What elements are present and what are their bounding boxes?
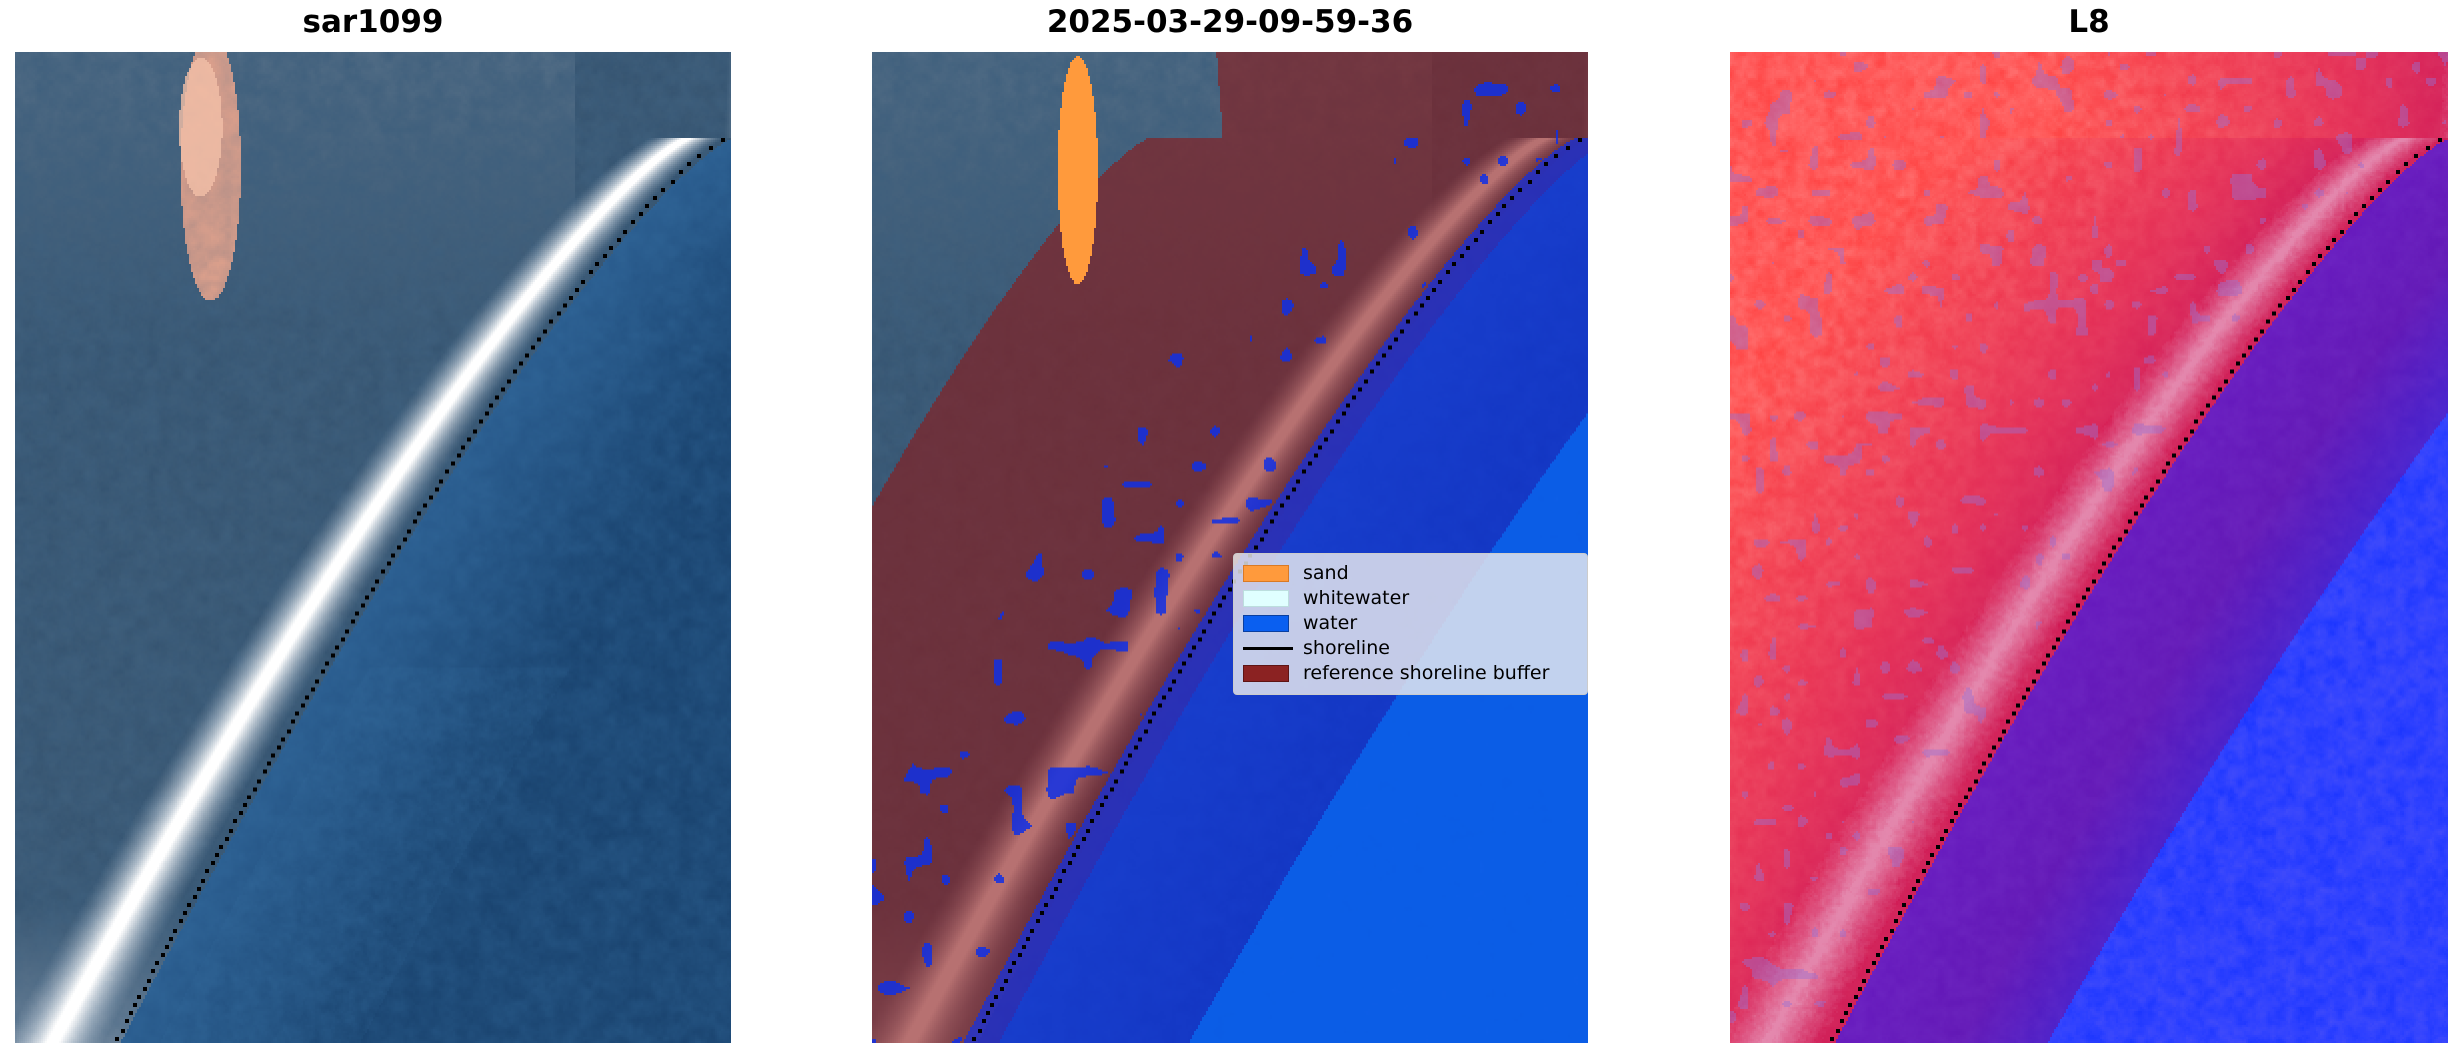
legend-item-water: water (1243, 611, 1578, 636)
legend-item-sand: sand (1243, 561, 1578, 586)
shoreline-line-icon (1243, 636, 1299, 661)
legend-label-water: water (1299, 611, 1357, 636)
legend-label-reference-shoreline-buffer: reference shoreline buffer (1299, 661, 1549, 686)
panel-sar1099: sar1099 (15, 52, 731, 1043)
legend-label-whitewater: whitewater (1299, 586, 1409, 611)
panel-classification: 2025-03-29-09-59-36 (872, 52, 1588, 1043)
panel-title-l8: L8 (1730, 4, 2448, 40)
legend-label-sand: sand (1299, 561, 1349, 586)
panel-l8: L8 (1730, 52, 2448, 1043)
panel-title-timestamp: 2025-03-29-09-59-36 (872, 4, 1588, 40)
reference-buffer-swatch-icon (1243, 661, 1299, 686)
panel-title-sar1099: sar1099 (15, 4, 731, 40)
legend-label-shoreline: shoreline (1299, 636, 1390, 661)
panel-image-l8 (1730, 52, 2448, 1043)
legend-item-reference-shoreline-buffer: reference shoreline buffer (1243, 661, 1578, 686)
legend-item-whitewater: whitewater (1243, 586, 1578, 611)
whitewater-swatch-icon (1243, 586, 1299, 611)
legend-item-shoreline: shoreline (1243, 636, 1578, 661)
legend: sand whitewater water shoreline referenc (1233, 553, 1588, 695)
sand-swatch-icon (1243, 561, 1299, 586)
panel-image-sar1099 (15, 52, 731, 1043)
panel-image-classification (872, 52, 1588, 1043)
figure-canvas: sar1099 2025-03-29-09-59-36 L8 sand whit… (0, 0, 2460, 1056)
water-swatch-icon (1243, 611, 1299, 636)
